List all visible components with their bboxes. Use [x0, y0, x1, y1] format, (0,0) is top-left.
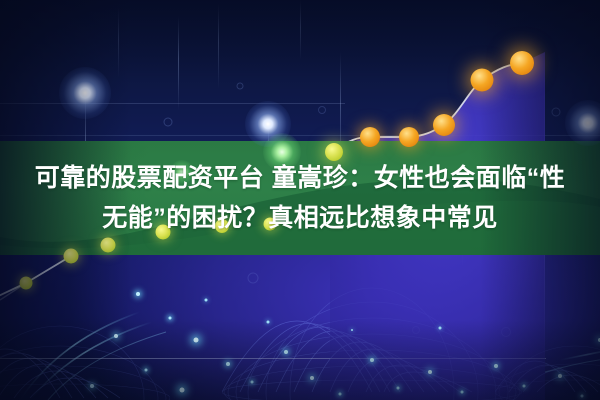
particle [581, 395, 584, 398]
particle [461, 391, 464, 394]
particle [428, 370, 432, 374]
chart-node-10 [433, 114, 455, 136]
particle [194, 338, 199, 343]
particle [370, 358, 374, 362]
particle [310, 376, 314, 380]
chart-node-8 [360, 127, 380, 147]
particle [145, 369, 148, 372]
particle [169, 317, 172, 320]
particle [284, 350, 288, 354]
particle [523, 385, 526, 388]
particle [494, 364, 498, 368]
chart-node-7 [325, 143, 343, 161]
banner-image: 可靠的股票配资平台 童嵩珍：女性也会面临“性 无能”的困扰？真相远比想象中常见 [0, 0, 600, 400]
particle [439, 327, 442, 330]
particle [251, 381, 254, 384]
particle [90, 384, 94, 388]
particle [180, 388, 185, 393]
particle [351, 329, 353, 331]
chart-node-12 [510, 51, 534, 75]
chart-node-9 [399, 127, 419, 147]
particle [205, 299, 208, 302]
particle [339, 393, 342, 396]
particle [136, 292, 140, 296]
particle [226, 362, 230, 366]
particle [114, 334, 118, 338]
particle [558, 374, 562, 378]
chart-node-11 [471, 69, 494, 92]
particle [397, 387, 400, 390]
particle [267, 321, 270, 324]
